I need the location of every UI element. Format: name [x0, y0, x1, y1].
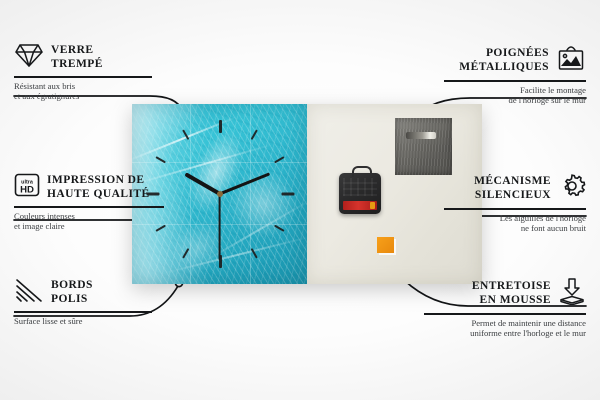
picture-frame-hook-icon [556, 44, 586, 77]
product-image [132, 104, 482, 284]
gear-icon [558, 172, 586, 205]
feature-entretoise-en-mousse: ENTRETOISE EN MOUSSE Permet de maintenir… [424, 277, 586, 339]
feature-divider [14, 76, 152, 78]
hanger-slot [406, 132, 436, 139]
feature-description-line2: de l'horloge sur le mur [444, 95, 586, 106]
clock-mechanism [339, 173, 381, 214]
feature-description-line2: ne font aucun bruit [444, 223, 586, 234]
feature-header: MÉCANISME SILENCIEUX [444, 172, 586, 205]
feature-description-line1: Résistant aux bris [14, 81, 154, 92]
feature-header: ENTRETOISE EN MOUSSE [424, 277, 586, 310]
feature-description-line1: Couleurs intenses [14, 211, 166, 222]
feature-title: MÉCANISME SILENCIEUX [474, 175, 551, 202]
feature-title: VERRE TREMPÉ [51, 44, 103, 71]
feature-description-line1: Permet de maintenir une distance [424, 318, 586, 329]
feature-verre-trempe: VERRE TREMPÉ Résistant aux bris et aux é… [14, 42, 154, 102]
feature-divider [14, 206, 164, 208]
foam-spacer [377, 237, 394, 253]
feature-title: BORDS POLIS [51, 279, 93, 306]
feature-description-line1: Les aiguilles de l'horloge [444, 213, 586, 224]
polished-edge-icon [14, 277, 44, 308]
feature-divider [14, 311, 152, 313]
feature-divider [444, 208, 586, 210]
clock-second-hand [219, 194, 221, 260]
feature-description-line2: uniforme entre l'horloge et le mur [424, 328, 586, 339]
foam-spacer-arrow-icon [558, 277, 586, 310]
feature-title: ENTRETOISE EN MOUSSE [472, 280, 551, 307]
feature-impression-haute-qualite: ultra HD IMPRESSION DE HAUTE QUALITÉ Cou… [14, 172, 166, 232]
infographic-canvas: VERRE TREMPÉ Résistant aux bris et aux é… [0, 0, 600, 400]
mechanism-hook [352, 166, 372, 177]
battery [343, 201, 377, 210]
feature-divider [424, 313, 586, 315]
clock-center-cap [217, 191, 223, 197]
feature-header: ultra HD IMPRESSION DE HAUTE QUALITÉ [14, 172, 166, 203]
feature-description-line1: Facilite le montage [444, 85, 586, 96]
feature-title: POIGNÉES MÉTALLIQUES [459, 47, 549, 74]
battery-terminal [370, 202, 375, 209]
diamond-icon [14, 42, 44, 73]
feature-divider [444, 80, 586, 82]
svg-text:HD: HD [20, 184, 34, 195]
mechanism-texture [343, 178, 377, 196]
feature-header: POIGNÉES MÉTALLIQUES [444, 44, 586, 77]
feature-title: IMPRESSION DE HAUTE QUALITÉ [47, 174, 150, 201]
feature-bords-polis: BORDS POLIS Surface lisse et sûre [14, 277, 154, 326]
ultra-hd-icon: ultra HD [14, 172, 40, 203]
feature-poignees-metalliques: POIGNÉES MÉTALLIQUES Facilite le montage… [444, 44, 586, 106]
feature-description-line2: et image claire [14, 221, 166, 232]
feature-header: VERRE TREMPÉ [14, 42, 154, 73]
feature-header: BORDS POLIS [14, 277, 154, 308]
metal-hanger-plate [395, 118, 452, 175]
feature-mecanisme-silencieux: MÉCANISME SILENCIEUX Les aiguilles de l'… [444, 172, 586, 234]
feature-description-line2: et aux égratignures [14, 91, 154, 102]
feature-description-line1: Surface lisse et sûre [14, 316, 154, 327]
